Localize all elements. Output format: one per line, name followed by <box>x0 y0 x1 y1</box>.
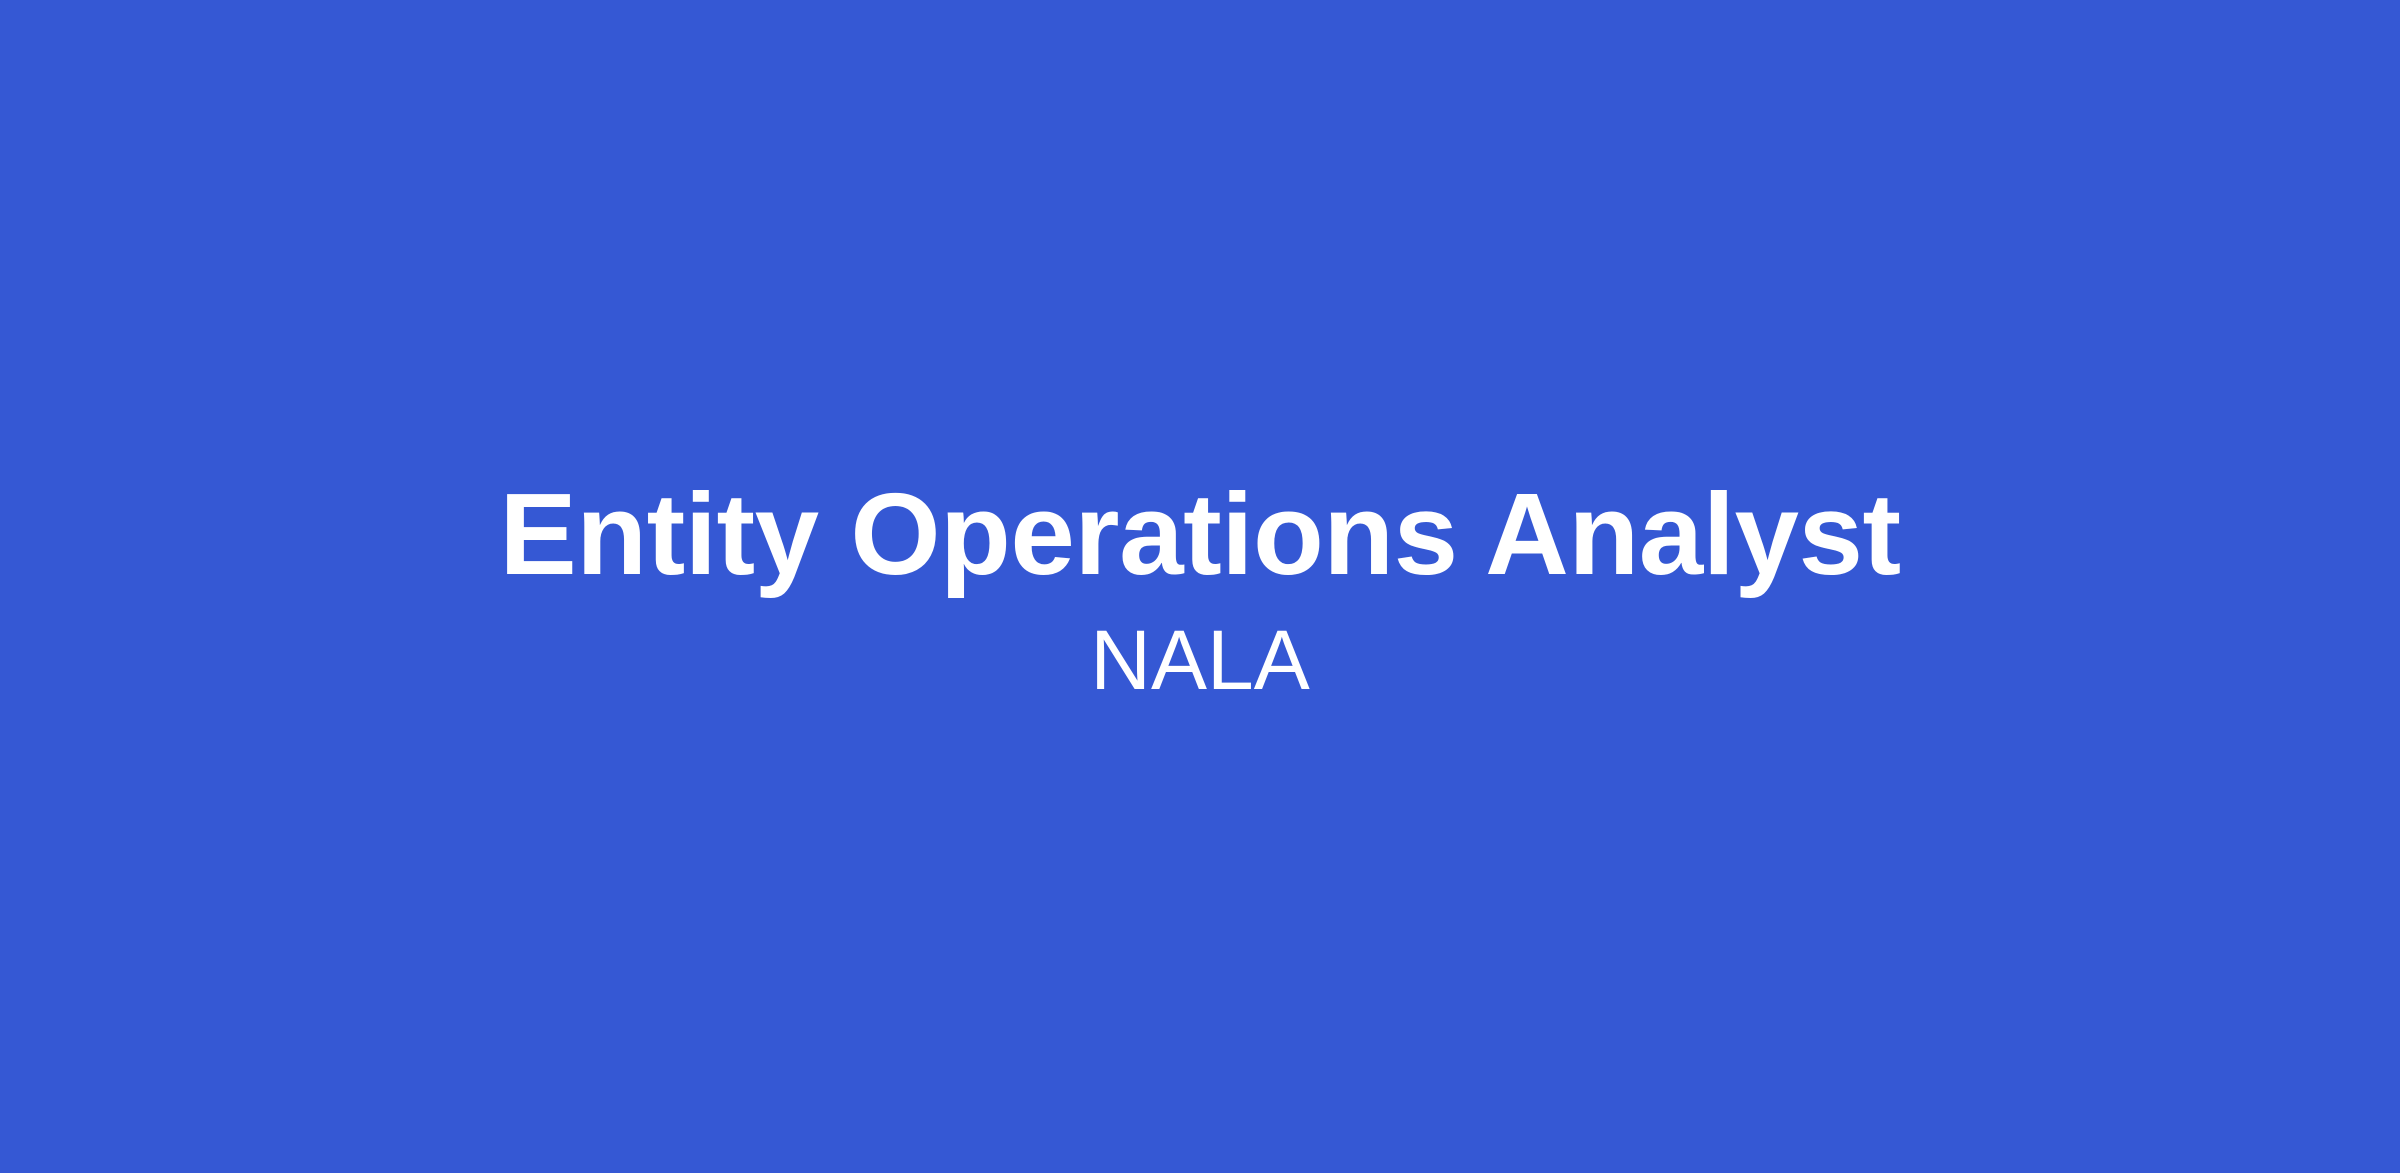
page-subtitle: NALA <box>1090 614 1309 706</box>
splash-screen: Entity Operations Analyst NALA <box>0 0 2400 1173</box>
page-title: Entity Operations Analyst <box>499 470 1900 600</box>
hero-text-block: Entity Operations Analyst NALA <box>0 470 2400 706</box>
